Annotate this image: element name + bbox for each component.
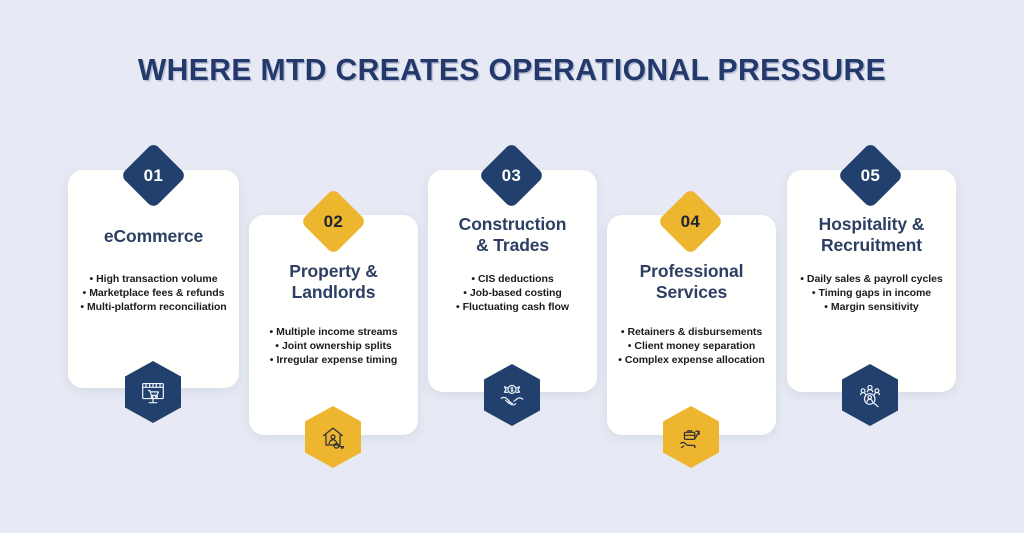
card-bullet-list: Daily sales & payroll cycles Timing gaps… xyxy=(787,272,956,315)
list-item: Joint ownership splits xyxy=(249,339,418,353)
card-number-label: 04 xyxy=(681,211,701,231)
card-number-label: 05 xyxy=(861,165,881,185)
list-item: CIS deductions xyxy=(428,272,597,286)
card-bullet-list: Retainers & disbursements Client money s… xyxy=(607,325,776,368)
card-number-label: 02 xyxy=(324,211,344,231)
list-item: Margin sensitivity xyxy=(787,300,956,314)
list-item: Job-based costing xyxy=(428,286,597,300)
list-item: Daily sales & payroll cycles xyxy=(787,272,956,286)
card-title: Professional Services xyxy=(615,261,768,303)
card-title: Construction & Trades xyxy=(436,214,589,256)
list-item: Complex expense allocation xyxy=(607,353,776,367)
list-item: Retainers & disbursements xyxy=(607,325,776,339)
list-item: Fluctuating cash flow xyxy=(428,300,597,314)
list-item: Multi-platform reconciliation xyxy=(68,300,239,314)
list-item: High transaction volume xyxy=(68,272,239,286)
card-number-label: 03 xyxy=(502,165,522,185)
list-item: Irregular expense timing xyxy=(249,353,418,367)
card-title: Hospitality & Recruitment xyxy=(795,214,948,256)
list-item: Timing gaps in income xyxy=(787,286,956,300)
card-title: Property & Landlords xyxy=(257,261,410,303)
card-number-label: 01 xyxy=(144,165,164,185)
card-title: eCommerce xyxy=(76,226,231,247)
card-bullet-list: Multiple income streams Joint ownership … xyxy=(249,325,418,368)
list-item: Client money separation xyxy=(607,339,776,353)
card-bullet-list: CIS deductions Job-based costing Fluctua… xyxy=(428,272,597,315)
list-item: Multiple income streams xyxy=(249,325,418,339)
list-item: Marketplace fees & refunds xyxy=(68,286,239,300)
card-bullet-list: High transaction volume Marketplace fees… xyxy=(68,272,239,315)
cards-container: eCommerce High transaction volume Market… xyxy=(0,0,1024,533)
